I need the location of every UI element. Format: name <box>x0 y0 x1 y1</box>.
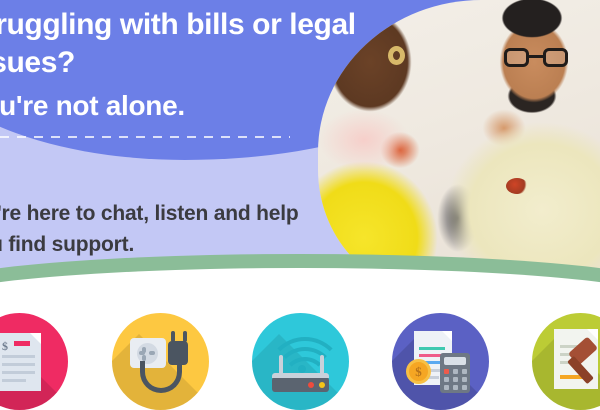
subheadline: You're not alone. <box>0 88 356 124</box>
conversation-photo <box>318 0 600 292</box>
body-text: We're here to chat, listen and help you … <box>0 198 326 260</box>
earring-detail <box>388 46 405 65</box>
plug-socket-icon[interactable] <box>112 313 209 410</box>
tattoo-detail <box>506 178 528 194</box>
support-promo-banner: Struggling with bills or legal issues? Y… <box>0 0 600 410</box>
photo-image <box>318 0 600 292</box>
wifi-router-icon[interactable] <box>252 313 349 410</box>
headline: Struggling with bills or legal issues? <box>0 6 356 82</box>
calculator-coin-icon[interactable]: $ <box>392 313 489 410</box>
bill-document-icon[interactable]: $ <box>0 313 68 410</box>
gavel-document-icon[interactable] <box>532 313 600 410</box>
category-icon-strip: $ <box>0 313 600 410</box>
glasses-detail <box>504 48 568 68</box>
dashed-divider <box>0 136 290 138</box>
